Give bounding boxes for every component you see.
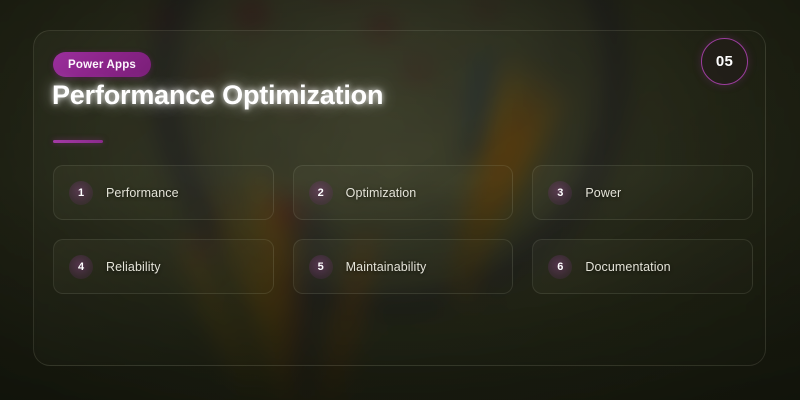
- item-number-badge: 5: [309, 255, 333, 279]
- item-number-badge: 6: [548, 255, 572, 279]
- item-label: Performance: [106, 186, 179, 200]
- item-label: Documentation: [585, 260, 670, 274]
- item-label: Reliability: [106, 260, 161, 274]
- item-card[interactable]: 3Power: [532, 165, 753, 220]
- slide-number-badge: 05: [701, 38, 748, 85]
- item-number-badge: 2: [309, 181, 333, 205]
- item-number-badge: 4: [69, 255, 93, 279]
- items-grid: 1Performance2Optimization3Power4Reliabil…: [53, 165, 753, 294]
- item-card[interactable]: 2Optimization: [293, 165, 514, 220]
- category-badge: Power Apps: [53, 52, 151, 77]
- item-label: Maintainability: [346, 260, 427, 274]
- item-label: Optimization: [346, 186, 417, 200]
- item-label: Power: [585, 186, 621, 200]
- item-number-badge: 3: [548, 181, 572, 205]
- item-card[interactable]: 5Maintainability: [293, 239, 514, 294]
- item-card[interactable]: 6Documentation: [532, 239, 753, 294]
- item-card[interactable]: 4Reliability: [53, 239, 274, 294]
- item-number-badge: 1: [69, 181, 93, 205]
- content-panel: Power Apps Performance Optimization 05 1…: [33, 30, 766, 366]
- slide-canvas: Power Apps Performance Optimization 05 1…: [0, 0, 800, 400]
- page-title: Performance Optimization: [52, 80, 383, 111]
- title-underline-accent: [53, 140, 103, 143]
- item-card[interactable]: 1Performance: [53, 165, 274, 220]
